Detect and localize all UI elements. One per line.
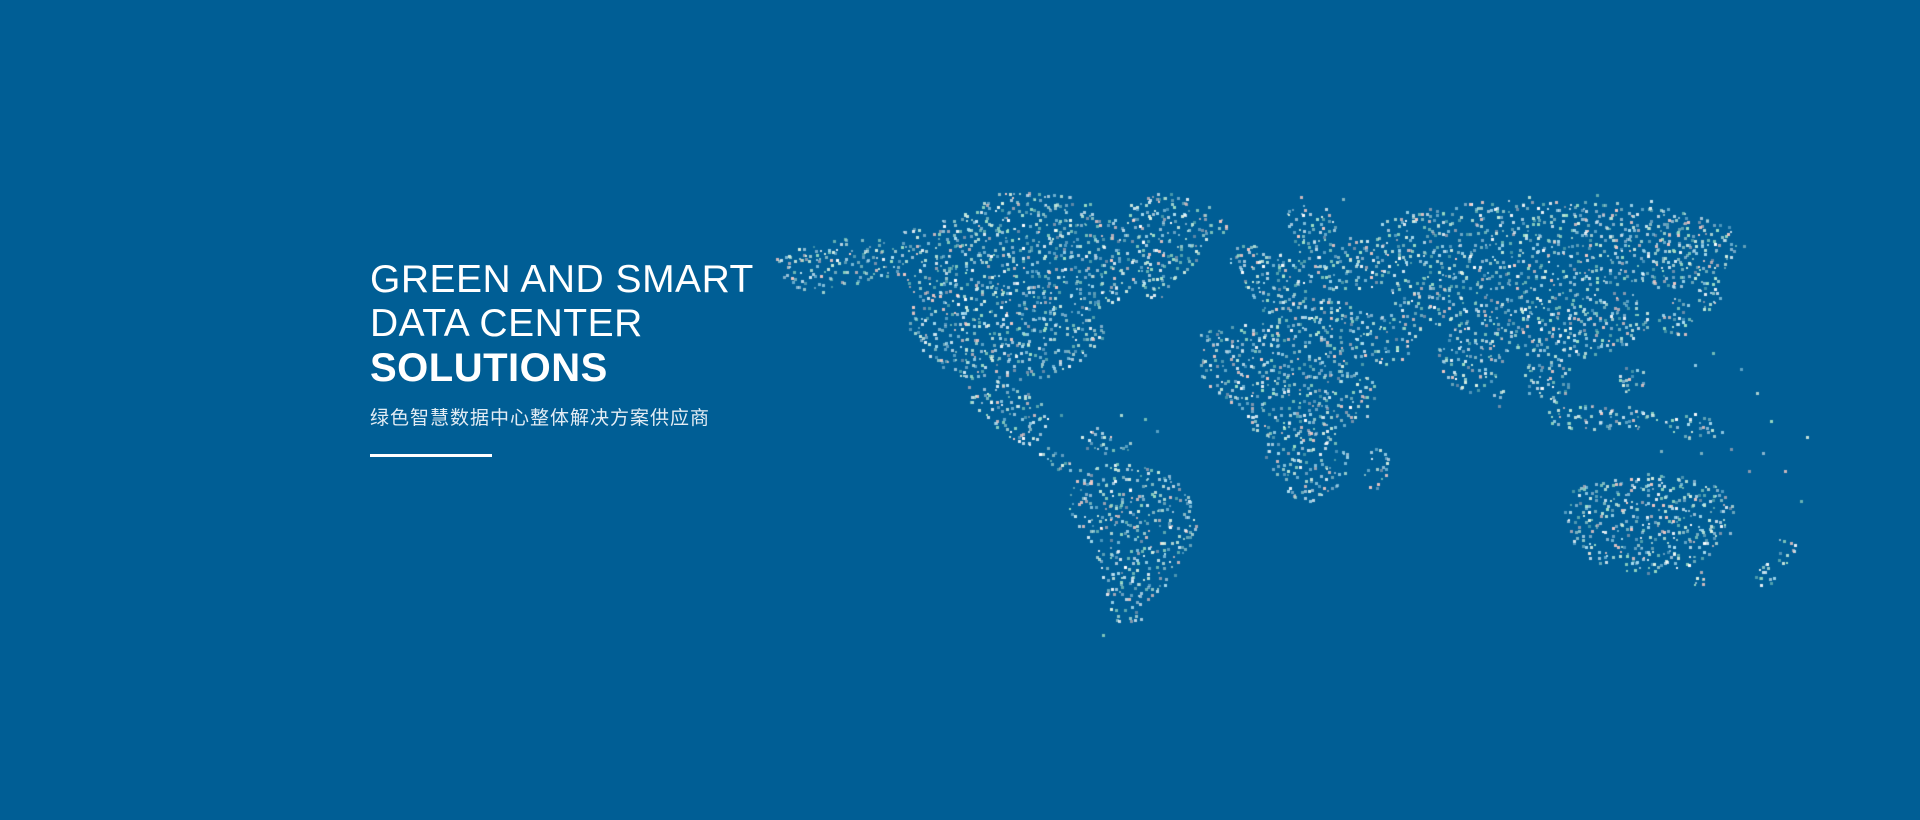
hero-subtitle: 绿色智慧数据中心整体解决方案供应商	[370, 406, 1130, 432]
hero-text-block: GREEN AND SMART DATA CENTER SOLUTIONS 绿色…	[370, 258, 1130, 457]
headline-line-2: DATA CENTER	[370, 302, 1130, 346]
hero-banner: GREEN AND SMART DATA CENTER SOLUTIONS 绿色…	[0, 0, 1920, 820]
headline-line-3: SOLUTIONS	[370, 346, 1130, 390]
headline-line-1: GREEN AND SMART	[370, 258, 1130, 302]
hero-divider-rule	[370, 454, 492, 457]
